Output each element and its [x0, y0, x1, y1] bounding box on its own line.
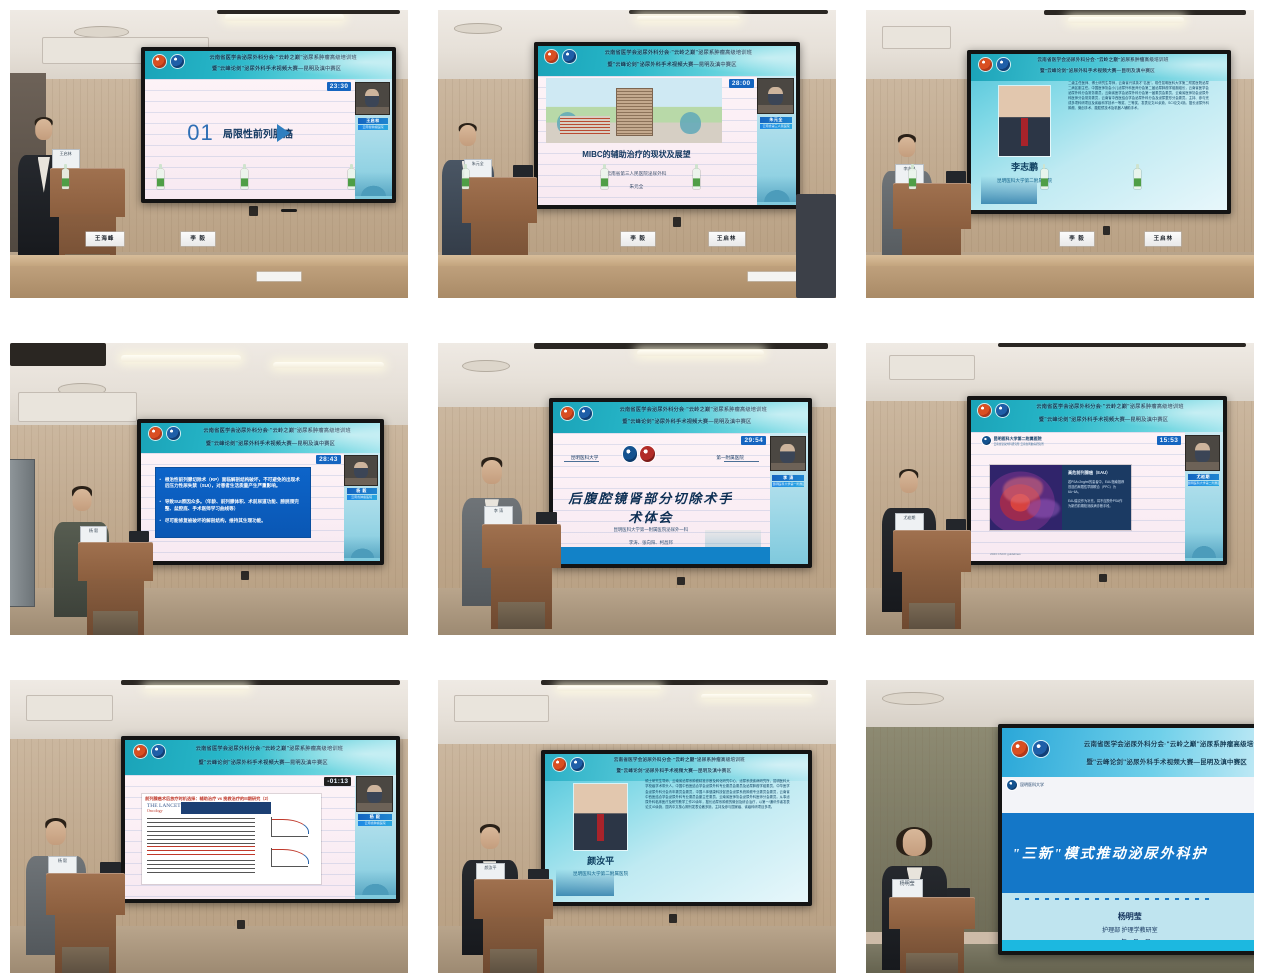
countdown-timer: 15:53	[1157, 436, 1182, 445]
skyline-graphic	[556, 869, 614, 896]
head	[72, 489, 91, 511]
table-document	[748, 272, 796, 281]
ceiling-beam	[1044, 10, 1246, 15]
head	[903, 829, 925, 855]
slide-body: MIBC的辅助治疗的现状及展望 云南省第三人民医院泌尿外科 朱元全	[538, 76, 758, 205]
slide-banner: 云南省医学会泌尿外科分会·"云岭之巅"泌尿系肿瘤高级培训班 暨"云峰论剑"泌尿外…	[545, 754, 808, 781]
association-logo-icon	[979, 58, 992, 71]
pip-presenter	[780, 444, 795, 463]
paper-text-block	[147, 831, 255, 843]
bio-name: 李志鹏	[991, 160, 1058, 173]
picture-in-picture-video	[344, 455, 378, 486]
pip-desk	[357, 803, 393, 810]
skyline-graphic	[757, 176, 796, 201]
microphone	[281, 209, 297, 212]
slide-department: 护理部 护理学教研室	[1002, 925, 1254, 934]
pip-desk	[771, 463, 805, 470]
table-name-card: 李 毅	[1060, 232, 1094, 246]
slide-banner: 云南省医学会泌尿外科分会·"云岭之巅"泌尿系肿瘤高级培训班 暨"云峰论剑"泌尿外…	[145, 51, 392, 79]
podium-top	[893, 530, 971, 572]
led-screen: 云南省医学会泌尿外科分会·"云岭之巅"泌尿系肿瘤高级培训班 暨"云峰论剑"泌尿外…	[549, 398, 812, 567]
panel-heading: 高危前列腺癌（EAU）	[1068, 470, 1125, 476]
photo-thumbnail-4[interactable]: 云南省医学会泌尿外科分会·"云岭之巅"泌尿系肿瘤高级培训班 暨"云峰论剑"泌尿外…	[10, 343, 408, 635]
conference-room: 云南省医学会泌尿外科分会·"云岭之巅"泌尿系肿瘤高级培训班 暨"云峰论剑"泌尿外…	[866, 343, 1254, 635]
speaker-org: 昆明医科大学第二附属医院	[1188, 481, 1219, 486]
wall-outlet	[673, 217, 681, 226]
water-bottle	[241, 169, 248, 189]
ceiling-panel	[889, 355, 974, 381]
door	[10, 460, 34, 606]
speaker-name-tag: 朱元全 云南省第三人民医院	[760, 117, 792, 129]
divider-left	[564, 461, 599, 462]
table-document	[257, 272, 301, 281]
hospital-seal-icon	[640, 446, 655, 462]
picture-in-picture-video	[356, 776, 394, 811]
led-screen: 云南省医学会泌尿外科分会·"云岭之巅"泌尿系肿瘤高级培训班 暨"云峰论剑"泌尿外…	[967, 50, 1231, 214]
table-top	[438, 255, 836, 266]
paper-text-highlight	[147, 846, 255, 857]
wall-outlet	[669, 914, 677, 923]
banner-logos	[978, 404, 1009, 417]
journal-logo: THE LANCET Oncology	[147, 803, 181, 813]
led-screen: 云南省医学会泌尿外科分会·"云岭之巅"泌尿系肿瘤高级培训班 暨"云峰论剑"泌尿外…	[121, 736, 400, 903]
podium: 尤崧期	[893, 530, 971, 629]
wall-outlet	[1103, 226, 1111, 235]
wall-outlet	[237, 920, 245, 929]
anatomy-text-panel: 高危前列腺癌（EAU） 若PSA<2ng/ml的患者中，EAU指南推荐首选的局限…	[1062, 465, 1131, 530]
water-bottle	[462, 169, 469, 189]
podium-base	[490, 949, 538, 973]
countdown-timer: 29:54	[741, 436, 766, 445]
banner-line-1: 云南省医学会泌尿外科分会·"云岭之巅"泌尿系肿瘤高级培训班	[1084, 738, 1254, 748]
banner-line-1: 云南省医学会泌尿外科分会·"云岭之巅"泌尿系肿瘤高级培训班	[196, 745, 343, 752]
head	[482, 460, 502, 484]
association-logo-icon	[553, 758, 566, 771]
table-name-card: 王启林	[709, 232, 745, 246]
photo-thumbnail-7[interactable]: 云南省医学会泌尿外科分会·"云岭之巅"泌尿系肿瘤高级培训班 暨"云峰论剑"泌尿外…	[10, 680, 408, 973]
speaker-name: 杨 毅	[347, 488, 377, 494]
bio-text: 二级主任医师、博士研究生导师，云南省兴滇英才"名医"。现任昆明医科大学第二附属医…	[1068, 81, 1209, 112]
conference-room: 云南省医学会泌尿外科分会·"云岭之巅"泌尿系肿瘤高级培训班 暨"云峰论剑"泌尿外…	[438, 680, 836, 973]
paper-slide: 前列腺癌术后放疗时机选择：辅助治疗 vs 挽救治疗的III期研究（2） THE …	[142, 794, 321, 883]
slide-body: 根治性前列腺切除术（RP）面临解剖结构破坏，不可避免的出现术后压力性尿失禁（SU…	[141, 453, 344, 561]
panel-paragraph-1: 若PSA<2ng/ml的患者中，EAU指南推荐首选的局限性早期联合（PPC）为6…	[1068, 480, 1125, 495]
water-bottle	[348, 169, 355, 189]
head	[480, 827, 499, 849]
conference-room: 云南省医学会泌尿外科分会·"云岭之巅"泌尿系肿瘤高级培训班 暨"云峰论剑"泌尿外…	[866, 680, 1254, 973]
banner-line-2: 暨"云峰论剑"泌尿外科手术视频大赛—昆明及滇中赛区	[206, 440, 335, 447]
ceiling-beam	[121, 680, 400, 685]
banner-line-2: 暨"云峰论剑"泌尿外科手术视频大赛—昆明及滇中赛区	[212, 65, 341, 72]
conference-room: 云南省医学会泌尿外科分会·"云岭之巅"泌尿系肿瘤高级培训班 暨"云峰论剑"泌尿外…	[866, 10, 1254, 298]
countdown-timer: -01:13	[324, 777, 351, 786]
slide-author: 杨明莹	[1002, 911, 1254, 922]
anatomy-figure: 高危前列腺癌（EAU） 若PSA<2ng/ml的患者中，EAU指南推荐首选的局限…	[990, 465, 1131, 530]
banner-line-2: 暨"云峰论剑"泌尿外科手术视频大赛—昆明及滇中赛区	[198, 759, 327, 766]
photo-thumbnail-2[interactable]: 云南省医学会泌尿外科分会·"云岭之巅"泌尿系肿瘤高级培训班 暨"云峰论剑"泌尿外…	[438, 10, 836, 298]
dotted-divider	[1015, 898, 1215, 900]
hospital-low-building	[560, 116, 609, 135]
slide-banner: 云南省医学会泌尿外科分会·"云岭之巅"泌尿系肿瘤高级培训班 暨"云峰论剑"泌尿外…	[553, 402, 808, 433]
led-screen: 云南省医学会泌尿外科分会·"云岭之巅"泌尿系肿瘤高级培训班 暨"云峰论剑"泌尿外…	[967, 396, 1227, 565]
banner-line-2: 暨"云峰论剑"泌尿外科手术视频大赛—昆明及滇中赛区	[616, 768, 731, 774]
skyline-graphic	[355, 870, 396, 895]
slide-banner: 云南省医学会泌尿外科分会·"云岭之巅"泌尿系肿瘤高级培训班 暨"云峰论剑"泌尿外…	[971, 54, 1227, 81]
photo-grid: 云南省医学会泌尿外科分会·"云岭之巅"泌尿系肿瘤高级培训班 暨"云峰论剑"泌尿外…	[0, 0, 1269, 972]
ceiling-light	[121, 355, 240, 362]
paper-text-block	[147, 818, 255, 829]
head	[35, 119, 53, 140]
podium: 杨明莹	[889, 897, 974, 973]
speaker-name: 杨 毅	[358, 814, 392, 820]
head	[46, 821, 66, 845]
ceiling	[10, 680, 408, 744]
slide-body: 昆明医科大学 第一附属医院 后腹腔镜肾部分切除术手术体会 昆明医科大学第一附属医…	[553, 433, 769, 564]
banner-line-1: 云南省医学会泌尿外科分会·"云岭之巅"泌尿系肿瘤高级培训班	[1036, 403, 1183, 410]
journal-section: Oncology	[147, 809, 181, 813]
slide-banner: 云南省医学会泌尿外科分会·"云岭之巅"泌尿系肿瘤高级培训班 暨"云峰论剑"泌尿外…	[125, 740, 396, 775]
bio-name: 颜汝平	[566, 854, 634, 867]
curve	[272, 819, 309, 834]
wall-outlet	[1099, 574, 1107, 583]
speaker-name-tag: 杨 毅 云南省肿瘤医院	[347, 488, 377, 500]
picture-in-picture-video	[757, 78, 793, 113]
pip-presenter	[1195, 443, 1210, 462]
slide-title: "三新"模式推动泌尿外科护	[1012, 843, 1247, 863]
podium: 李 涛	[482, 524, 562, 629]
podium-top	[482, 524, 562, 568]
association-logo-icon	[978, 404, 991, 417]
photo-thumbnail-8[interactable]: 云南省医学会泌尿外科分会·"云岭之巅"泌尿系肿瘤高级培训班 暨"云峰论剑"泌尿外…	[438, 680, 836, 973]
speaker-org: 云南省肿瘤医院	[358, 125, 389, 130]
slide-banner: 云南省医学会泌尿外科分会·"云岭之巅"泌尿系肿瘤高级培训班 暨"云峰论剑"泌尿外…	[1002, 728, 1254, 777]
banner-line-1: 云南省医学会泌尿外科分会·"云岭之巅"泌尿系肿瘤高级培训班	[209, 54, 356, 61]
hospital-photo	[546, 78, 722, 142]
hospital-tower	[617, 89, 652, 135]
podium-base	[498, 602, 546, 629]
banner-line-2: 暨"云峰论剑"泌尿外科手术视频大赛—昆明及滇中赛区	[622, 418, 751, 425]
speaker-portrait	[999, 86, 1050, 156]
ceiling-light	[273, 362, 384, 368]
banner-logos	[1012, 741, 1049, 757]
speaker-org: 云南省第三人民医院	[760, 124, 792, 129]
banner-logos	[149, 427, 180, 440]
ceiling-beam	[629, 10, 828, 14]
org-mark: 昆明医科大学	[1007, 780, 1044, 790]
speaker-portrait	[574, 784, 627, 850]
ceiling-beam	[10, 343, 106, 366]
led-screen: 云南省医学会泌尿外科分会·"云岭之巅"泌尿系肿瘤高级培训班 暨"云峰论剑"泌尿外…	[998, 724, 1254, 955]
water-bottle	[1041, 169, 1048, 189]
podium-base	[93, 611, 138, 635]
slide-citation: 2023 CSCO guidelines	[990, 552, 1021, 556]
medical-logo-icon	[171, 55, 184, 68]
skyline-graphic	[355, 172, 392, 196]
water-bottle	[62, 169, 69, 189]
medical-logo-icon	[571, 758, 584, 771]
slide-bottom-band	[1002, 940, 1254, 951]
slide-banner: 云南省医学会泌尿外科分会·"云岭之巅"泌尿系肿瘤高级培训班 暨"云峰论剑"泌尿外…	[141, 423, 380, 453]
laptop	[129, 531, 149, 542]
ceiling	[10, 343, 408, 431]
pip-desk	[758, 105, 792, 112]
speaker-name-tag: 李 涛 昆明医科大学第一附属医院	[772, 475, 804, 487]
banner-line-1: 云南省医学会泌尿外科分会·"云岭之巅"泌尿系肿瘤高级培训班	[605, 49, 752, 56]
laptop	[946, 171, 966, 184]
hospital-seal-icon	[982, 436, 991, 445]
speaker-name-tag: 尤崧期 昆明医科大学第二附属医院	[1188, 474, 1219, 486]
slide-surface: 云南省医学会泌尿外科分会·"云岭之巅"泌尿系肿瘤高级培训班 暨"云峰论剑"泌尿外…	[971, 54, 1227, 210]
countdown-timer: 23:30	[327, 82, 352, 91]
slide-bottom-band	[553, 547, 769, 564]
podium-base	[62, 947, 110, 973]
pip-desk	[356, 107, 389, 114]
led-screen: 云南省医学会泌尿外科分会·"云岭之巅"泌尿系肿瘤高级培训班 暨"云峰论剑"泌尿外…	[541, 750, 812, 905]
slide-title: 后腹腔镜肾部分切除术手术体会	[566, 488, 735, 526]
photo-thumbnail-5[interactable]: 云南省医学会泌尿外科分会·"云岭之巅"泌尿系肿瘤高级培训班 暨"云峰论剑"泌尿外…	[438, 343, 836, 635]
led-screen: 云南省医学会泌尿外科分会·"云岭之巅"泌尿系肿瘤高级培训班 暨"云峰论剑"泌尿外…	[137, 419, 384, 565]
conference-room: 云南省医学会泌尿外科分会·"云岭之巅"泌尿系肿瘤高级培训班 暨"云峰论剑"泌尿外…	[438, 343, 836, 635]
curve	[272, 849, 309, 864]
association-logo-icon	[153, 55, 166, 68]
slide-surface: 云南省医学会泌尿外科分会·"云岭之巅"泌尿系肿瘤高级培训班 暨"云峰论剑"泌尿外…	[538, 46, 797, 205]
speaker-name: 王启林	[358, 118, 389, 124]
water-bottle	[909, 169, 916, 189]
banner-line-1: 云南省医学会泌尿外科分会·"云岭之巅"泌尿系肿瘤高级培训班	[203, 427, 350, 434]
slide-title: MIBC的辅助治疗的现状及展望	[551, 149, 722, 160]
speaker-name: 李 涛	[772, 475, 804, 481]
podium-base	[906, 953, 957, 973]
bullet-item: 尽可能修复被破坏的解剖结构，维持其生理功能。	[165, 518, 302, 525]
anatomy-illustration	[990, 465, 1062, 530]
podium: 颜汝平	[474, 879, 554, 973]
slide-surface: 云南省医学会泌尿外科分会·"云岭之巅"泌尿系肿瘤高级培训班 暨"云峰论剑"泌尿外…	[1002, 728, 1254, 951]
association-logo-icon	[561, 407, 574, 420]
ceiling-beam	[541, 680, 828, 685]
led-screen: 云南省医学会泌尿外科分会·"云岭之巅"泌尿系肿瘤高级培训班 暨"云峰论剑"泌尿外…	[141, 47, 396, 203]
speaker-name-tag: 杨 毅 云南省肿瘤医院	[358, 814, 392, 826]
banner-logos	[153, 55, 184, 68]
table-top	[10, 255, 408, 266]
banner-line-2: 暨"云峰论剑"泌尿外科手术视频大赛—昆明及滇中赛区	[1039, 416, 1168, 423]
podium: 杨 毅	[46, 873, 126, 973]
water-bottle	[693, 169, 700, 189]
bullet-card: 根治性前列腺切除术（RP）面临解剖结构破坏，不可避免的出现术后压力性尿失禁（SU…	[156, 468, 310, 537]
slide-title-band: "三新"模式推动泌尿外科护	[1002, 813, 1254, 893]
podium: 杨 毅	[78, 542, 154, 635]
table-top	[866, 255, 1254, 266]
bio-text: 硕士研究生导师，云南省泌尿系肿瘤精准诊断及转化研究中心，泌尿系统疾病研究所，昆明…	[645, 779, 789, 810]
water-bottle	[157, 169, 164, 189]
abstract-block	[181, 802, 271, 814]
slide-surface: 云南省医学会泌尿外科分会·"云岭之巅"泌尿系肿瘤高级培训班 暨"云峰论剑"泌尿外…	[553, 402, 808, 563]
slide-surface: 云南省医学会泌尿外科分会·"云岭之巅"泌尿系肿瘤高级培训班 暨"云峰论剑"泌尿外…	[971, 400, 1223, 561]
bullet-item: 导致SUI原因众多。（年龄、前列腺体积、术前尿道功能、膀胱颈完整、盆腔底、手术医…	[165, 499, 302, 513]
led-screen: 云南省医学会泌尿外科分会·"云岭之巅"泌尿系肿瘤高级培训班 暨"云峰论剑"泌尿外…	[534, 42, 801, 209]
picture-in-picture-video	[770, 436, 806, 472]
skyline-graphic	[981, 176, 1037, 204]
medical-logo-icon	[167, 427, 180, 440]
speaker-org: 云南省肿瘤医院	[358, 821, 392, 826]
picture-in-picture-video	[355, 82, 390, 115]
ceiling-panel	[454, 695, 550, 722]
podium-top	[474, 879, 554, 918]
photo-thumbnail-9[interactable]: 云南省医学会泌尿外科分会·"云岭之巅"泌尿系肿瘤高级培训班 暨"云峰论剑"泌尿外…	[866, 680, 1254, 973]
ceiling-vent-icon	[454, 23, 502, 33]
medical-logo-icon	[579, 407, 592, 420]
medical-logo-icon	[563, 50, 576, 63]
slide-surface: 云南省医学会泌尿外科分会·"云岭之巅"泌尿系肿瘤高级培训班 暨"云峰论剑"泌尿外…	[141, 423, 380, 561]
water-bottle	[1134, 169, 1141, 189]
ceiling-beam	[217, 10, 400, 14]
association-logo-icon	[1012, 741, 1028, 757]
conference-room: 云南省医学会泌尿外科分会·"云岭之巅"泌尿系肿瘤高级培训班 暨"云峰论剑"泌尿外…	[10, 10, 408, 298]
podium-top	[46, 873, 126, 915]
slide-body: 昆明医科大学第二附属医院 云南省泌尿外科研究所·云南省肾脏病研究所 高危前列腺癌…	[971, 432, 1185, 561]
podium-top	[462, 177, 538, 223]
pip-desk	[345, 478, 377, 484]
ceiling-vent-icon	[882, 692, 944, 706]
speaker-name: 朱元全	[760, 117, 792, 123]
chair	[796, 194, 836, 298]
speaker-name-tag: 王启林 云南省肿瘤医院	[358, 118, 389, 130]
pip-presenter	[365, 89, 379, 106]
speaker-org: 云南省肿瘤医院	[347, 495, 377, 500]
slide-banner: 云南省医学会泌尿外科分会·"云岭之巅"泌尿系肿瘤高级培训班 暨"云峰论剑"泌尿外…	[538, 46, 797, 76]
ceiling-light	[557, 686, 660, 691]
pip-presenter	[768, 87, 783, 105]
countdown-timer: 28:00	[729, 79, 754, 88]
table-name-card: 王海峰	[86, 232, 124, 246]
head	[459, 125, 477, 146]
play-triangle-icon	[277, 124, 290, 142]
bullet-item: 根治性前列腺切除术（RP）面临解剖结构破坏，不可避免的出现术后压力性尿失禁（SU…	[165, 477, 302, 491]
table-name-card: 李 毅	[181, 232, 215, 246]
banner-logos	[561, 407, 592, 420]
front-table	[866, 255, 1254, 298]
photo-thumbnail-1[interactable]: 云南省医学会泌尿外科分会·"云岭之巅"泌尿系肿瘤高级培训班 暨"云峰论剑"泌尿外…	[10, 10, 408, 298]
slide-surface: 云南省医学会泌尿外科分会·"云岭之巅"泌尿系肿瘤高级培训班 暨"云峰论剑"泌尿外…	[125, 740, 396, 899]
banner-logos	[979, 58, 1010, 71]
ceiling-light	[1068, 17, 1184, 23]
ceiling-light	[701, 694, 812, 699]
slide-banner: 云南省医学会泌尿外科分会·"云岭之巅"泌尿系肿瘤高级培训班 暨"云峰论剑"泌尿外…	[971, 400, 1223, 432]
table-name-card: 李 毅	[621, 232, 655, 246]
ceiling-light	[637, 350, 764, 356]
paper-heading: 前列腺癌术后放疗时机选择：辅助治疗 vs 挽救治疗的III期研究（2）	[145, 796, 292, 802]
skyline-graphic	[344, 536, 380, 558]
paper-text-block	[147, 860, 255, 874]
association-logo-icon	[134, 745, 147, 758]
university-seals	[623, 446, 655, 462]
banner-logos	[545, 50, 576, 63]
banner-line-2: 暨"云峰论剑"泌尿外科手术视频大赛—昆明及滇中赛区	[1040, 68, 1155, 74]
countdown-timer: 28:43	[316, 455, 341, 464]
ceiling	[438, 680, 836, 750]
ceiling-beam	[534, 343, 829, 349]
banner-line-1: 云南省医学会泌尿外科分会·"云岭之巅"泌尿系肿瘤高级培训班	[620, 406, 767, 413]
survival-curve-chart	[265, 846, 312, 869]
panel-paragraph-2: EAU建议作为补充，将不应额外PSA作为新的前期检测疾病诊断手段。	[1068, 499, 1125, 509]
speaker-org: 昆明医科大学第一附属医院	[772, 482, 804, 487]
survival-curve-chart	[265, 816, 312, 839]
association-logo-icon	[545, 50, 558, 63]
table-name-card: 王启林	[1145, 232, 1181, 246]
podium-top	[78, 542, 154, 581]
tree-graphic	[680, 112, 701, 134]
podium-top	[893, 183, 971, 229]
slide-header-org: 昆明医科大学第二附属医院 云南省泌尿外科研究所·云南省肾脏病研究所	[982, 436, 1044, 446]
slide-body: 前列腺癌术后放疗时机选择：辅助治疗 vs 挽救治疗的III期研究（2） THE …	[125, 775, 355, 899]
medical-logo-icon	[996, 404, 1009, 417]
ceiling-light	[225, 14, 344, 21]
slide-body: 01 局限性前列腺癌	[145, 79, 355, 198]
pip-desk	[1186, 462, 1219, 469]
medical-logo-icon	[152, 745, 165, 758]
university-seal-icon	[623, 446, 638, 462]
ceiling-light	[145, 686, 248, 690]
conference-room: 云南省医学会泌尿外科分会·"云岭之巅"泌尿系肿瘤高级培训班 暨"云峰论剑"泌尿外…	[438, 10, 836, 298]
association-logo-icon	[149, 427, 162, 440]
ceiling-panel	[26, 695, 114, 721]
org-mark-label: 昆明医科大学	[1020, 782, 1044, 788]
pip-presenter	[367, 785, 383, 803]
ceiling-beam	[998, 343, 1246, 347]
picture-in-picture-video	[1185, 435, 1220, 471]
skyline-graphic	[1185, 532, 1223, 558]
ceiling-panel	[882, 26, 952, 48]
slide-surface: 云南省医学会泌尿外科分会·"云岭之巅"泌尿系肿瘤高级培训班 暨"云峰论剑"泌尿外…	[145, 51, 392, 199]
banner-line-1: 云南省医学会泌尿外科分会·"云岭之巅"泌尿系肿瘤高级培训班	[614, 757, 745, 763]
banner-logos	[553, 758, 584, 771]
header-org-sub: 云南省泌尿外科研究所·云南省肾脏病研究所	[994, 442, 1044, 446]
head	[899, 471, 917, 493]
slide-white-band: 昆明医科大学	[1002, 777, 1254, 813]
ceiling-light	[637, 16, 740, 21]
medical-logo-icon	[997, 58, 1010, 71]
head	[898, 137, 915, 157]
speaker-name: 尤崧期	[1188, 474, 1219, 480]
slide-surface: 云南省医学会泌尿外科分会·"云岭之巅"泌尿系肿瘤高级培训班 暨"云峰论剑"泌尿外…	[545, 754, 808, 901]
photo-thumbnail-6[interactable]: 云南省医学会泌尿外科分会·"云岭之巅"泌尿系肿瘤高级培训班 暨"云峰论剑"泌尿外…	[866, 343, 1254, 635]
divider-right	[724, 461, 759, 462]
podium-name-plate: 杨明莹	[893, 880, 922, 898]
podium-top	[889, 897, 974, 929]
medical-logo-icon	[1033, 741, 1049, 757]
conference-room: 云南省医学会泌尿外科分会·"云岭之巅"泌尿系肿瘤高级培训班 暨"云峰论剑"泌尿外…	[10, 343, 408, 635]
wall-outlet	[249, 206, 258, 216]
ceiling-panel	[18, 392, 137, 422]
water-bottle	[601, 169, 608, 189]
university-seal-icon	[1007, 780, 1017, 790]
wall-outlet	[241, 571, 249, 580]
podium-base	[909, 603, 956, 629]
banner-line-2: 暨"云峰论剑"泌尿外科手术视频大赛—昆明及滇中赛区	[607, 61, 736, 68]
banner-line-1: 云南省医学会泌尿外科分会·"云岭之巅"泌尿系肿瘤高级培训班	[1037, 57, 1168, 63]
banner-line-2: 暨"云峰论剑"泌尿外科手术视频大赛—昆明及滇中赛区	[1086, 756, 1247, 766]
ceiling-vent-icon	[462, 360, 510, 373]
conference-room: 云南省医学会泌尿外科分会·"云岭之巅"泌尿系肿瘤高级培训班 暨"云峰论剑"泌尿外…	[10, 680, 408, 973]
banner-logos	[134, 745, 165, 758]
header-org-name: 昆明医科大学第二附属医院	[994, 436, 1044, 442]
photo-thumbnail-3[interactable]: 云南省医学会泌尿外科分会·"云岭之巅"泌尿系肿瘤高级培训班 暨"云峰论剑"泌尿外…	[866, 10, 1254, 298]
pip-presenter	[354, 462, 368, 478]
front-table	[10, 255, 408, 298]
section-number: 01	[187, 120, 213, 146]
wall-outlet	[677, 577, 685, 586]
